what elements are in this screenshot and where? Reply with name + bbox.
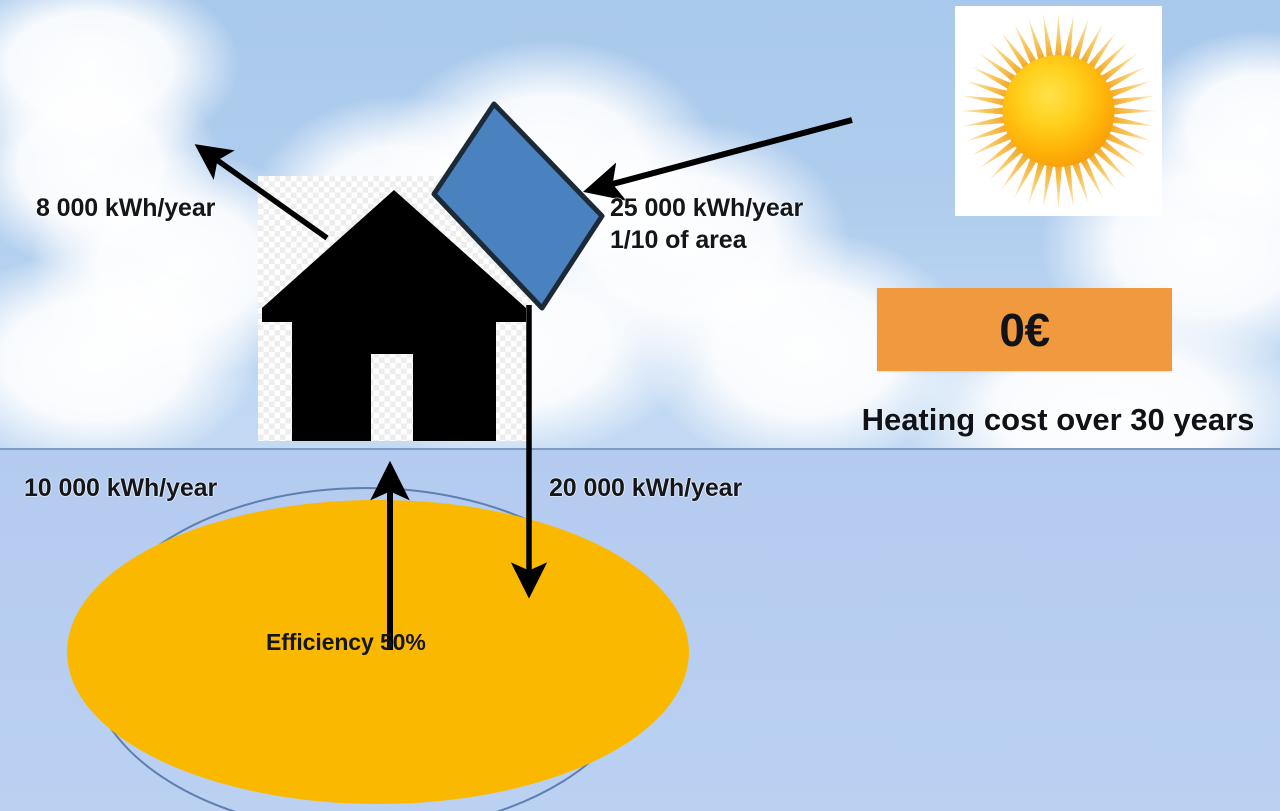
- label-ground-input: 10 000 kWh/year: [24, 472, 217, 504]
- label-efficiency: Efficiency 50%: [266, 628, 426, 657]
- heating-cost-box: 0€: [877, 288, 1172, 371]
- sun-core: [1003, 55, 1115, 167]
- heating-cost-caption: Heating cost over 30 years: [838, 400, 1278, 441]
- sun-icon: [955, 6, 1162, 216]
- solar-panel-icon: [430, 100, 606, 312]
- label-stored-input: 20 000 kWh/year: [549, 472, 742, 504]
- diagram-canvas: 8 000 kWh/year 25 000 kWh/year1/10 of ar…: [0, 0, 1280, 811]
- label-solar-input-line1: 25 000 kWh/year: [610, 194, 803, 222]
- label-solar-input-line2: 1/10 of area: [610, 224, 803, 256]
- label-solar-input: 25 000 kWh/year1/10 of area: [610, 192, 803, 256]
- label-heat-loss: 8 000 kWh/year: [36, 192, 215, 224]
- heating-cost-value: 0€: [999, 303, 1049, 357]
- solar-panel-surface: [434, 104, 602, 308]
